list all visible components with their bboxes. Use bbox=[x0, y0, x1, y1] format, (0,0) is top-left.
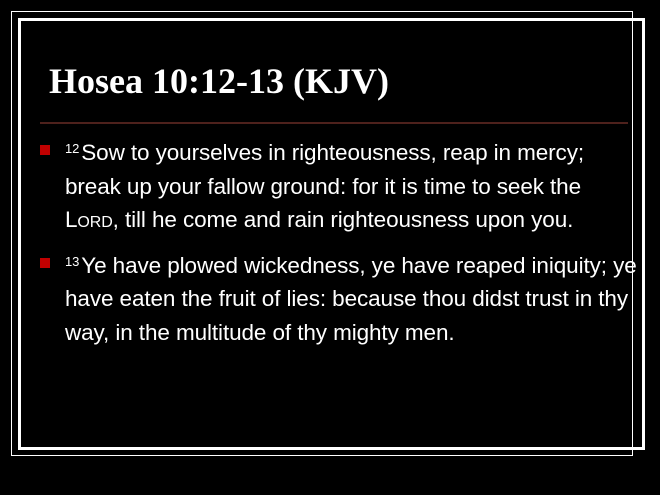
slide-title: Hosea 10:12-13 (KJV) bbox=[49, 60, 389, 102]
verse-text-segment-after: , till he come and rain righteousness up… bbox=[113, 207, 574, 232]
verse-text-segment: Ye have plowed wickedness, ye have reape… bbox=[65, 253, 637, 345]
list-item: 13Ye have plowed wickedness, ye have rea… bbox=[28, 245, 638, 350]
title-divider-rule bbox=[40, 122, 628, 124]
verse-number: 13 bbox=[65, 254, 81, 269]
red-square-bullet-icon bbox=[40, 258, 50, 268]
verse-number: 12 bbox=[65, 141, 81, 156]
divine-name-smallcaps: Lord bbox=[65, 207, 113, 232]
scripture-body: 12Sow to yourselves in righteousness, re… bbox=[28, 132, 638, 357]
slide-content: Hosea 10:12-13 (KJV) 12Sow to yourselves… bbox=[18, 18, 645, 450]
verse-text-13: 13Ye have plowed wickedness, ye have rea… bbox=[65, 245, 638, 350]
verse-text-12: 12Sow to yourselves in righteousness, re… bbox=[65, 132, 638, 237]
red-square-bullet-icon bbox=[40, 145, 50, 155]
verse-text-segment-before: Sow to yourselves in righteousness, reap… bbox=[65, 140, 584, 199]
list-item: 12Sow to yourselves in righteousness, re… bbox=[28, 132, 638, 237]
scripture-slide: Hosea 10:12-13 (KJV) 12Sow to yourselves… bbox=[0, 0, 660, 495]
